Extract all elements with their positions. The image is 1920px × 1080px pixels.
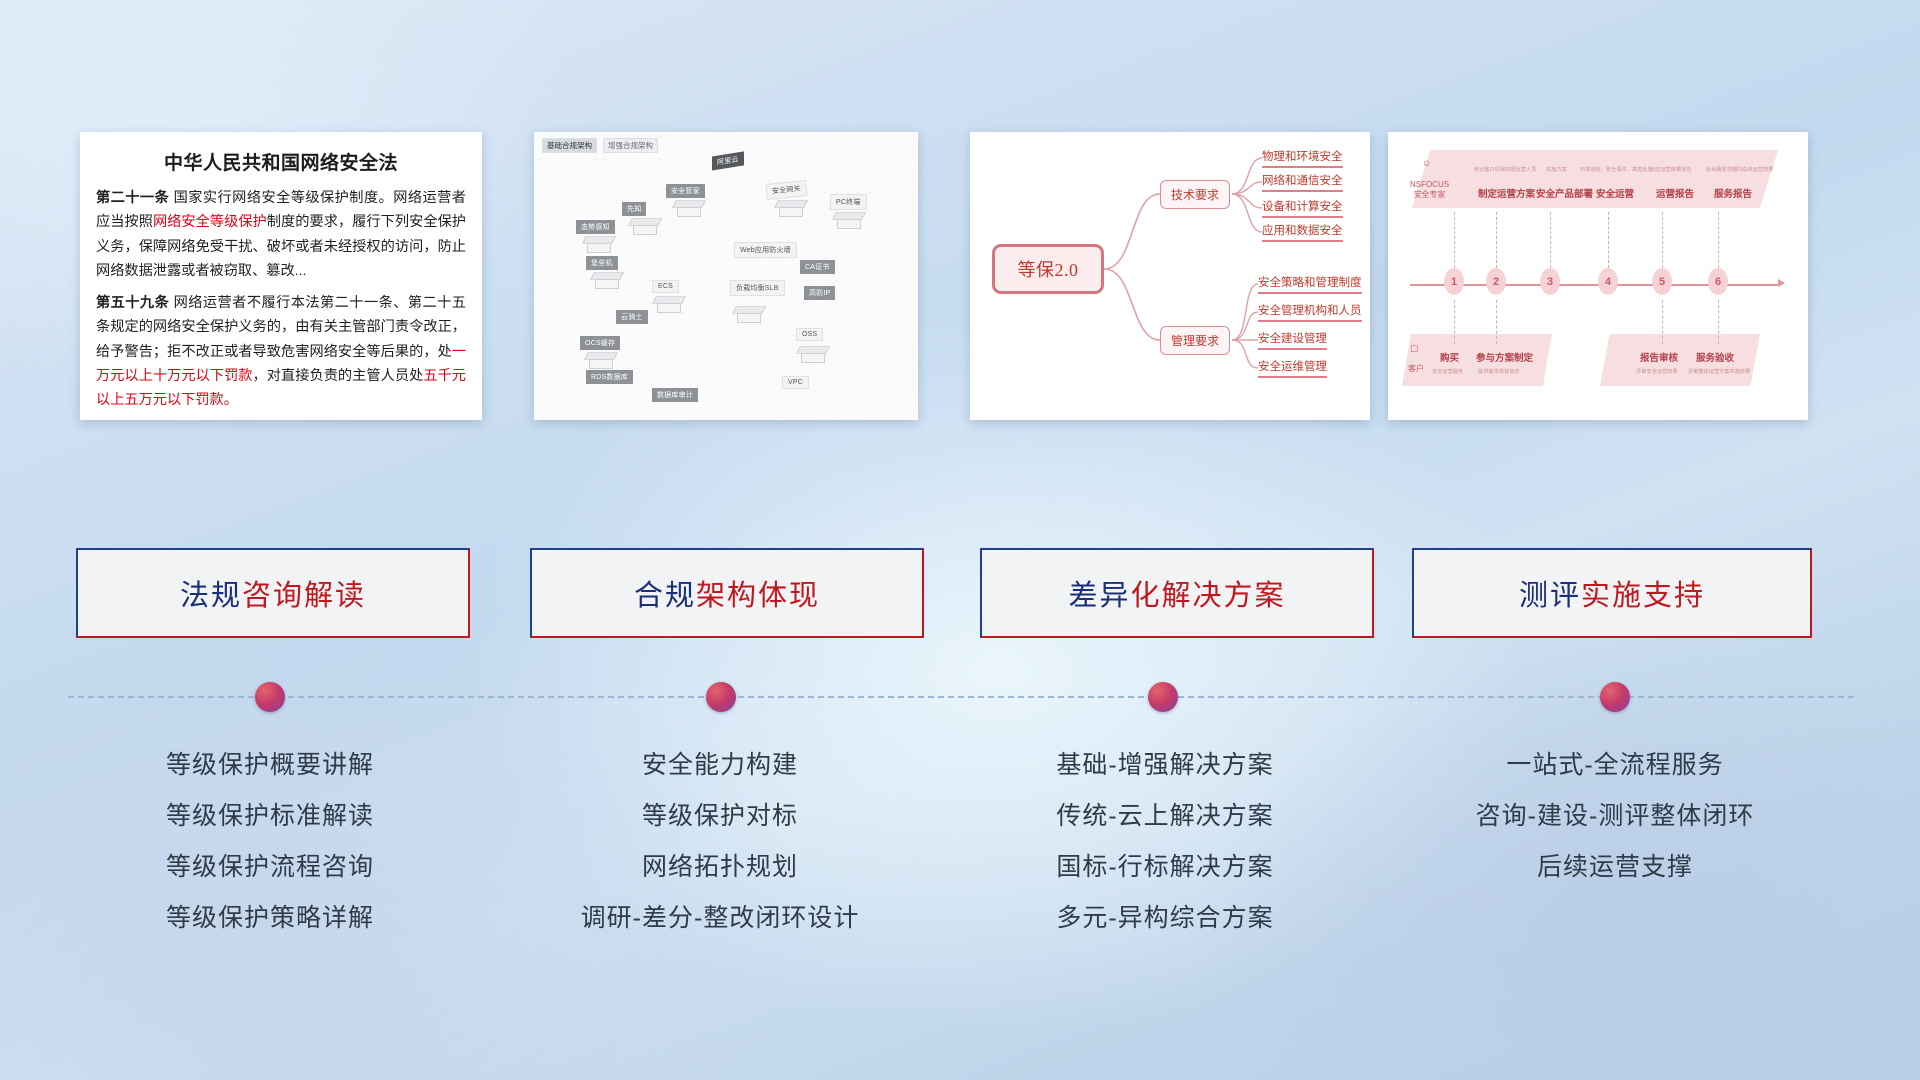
header-3-red: 化解决方案: [1131, 580, 1286, 612]
connector-bottom-3: [1662, 300, 1663, 344]
timeline-node-5: 5: [1652, 268, 1672, 295]
bottom-item-3-sub: 评审安全运营效果: [1636, 368, 1678, 375]
cube-oss: [798, 344, 828, 364]
bottom-item-1-label: 购买: [1440, 350, 1459, 364]
header-1-blue: 法规: [180, 580, 242, 612]
cube-pc-terminal: [834, 210, 864, 230]
service-timeline: ☺ NSFOCUS 安全专家 结合客户现状匹配运营人员 制定运营方案 实施方案 …: [1388, 132, 1808, 420]
cube-ocs-cache: [586, 350, 616, 370]
node-rds-database: RDS数据库: [586, 370, 633, 384]
node-bastion-host: 堡垒机: [586, 256, 618, 270]
bottom-item-1-sub: 安全运营服务: [1432, 368, 1463, 375]
header-1-red: 咨询解读: [242, 580, 366, 612]
step-2-sub: 结合客户现状匹配运营人员: [1474, 166, 1536, 173]
rail-dot-4[interactable]: [1600, 682, 1630, 712]
mindmap-branch-management: 管理要求: [1160, 326, 1230, 355]
bullet-column-3: 基础-增强解决方案 传统-云上解决方案 国标-行标解决方案 多元-异构综合方案: [955, 740, 1375, 944]
timeline-node-4: 4: [1598, 268, 1618, 295]
section-headers-row: 法规咨询解读 合规架构体现 差异化解决方案 测评实施支持: [0, 548, 1920, 640]
header-4-red: 实施支持: [1581, 580, 1705, 612]
cube-security-butler: [674, 198, 704, 218]
mindmap-leaf-device-computing: 设备和计算安全: [1262, 198, 1343, 218]
bottom-item-2-sub: 提供基本现状信息: [1478, 368, 1520, 375]
law-article-59: 第五十九条 网络运营者不履行本法第二十一条、第二十五条规定的网络安全保护义务的，…: [96, 291, 466, 413]
customer-role-label: 客户: [1408, 364, 1424, 374]
mindmap-leaf-physical-environment: 物理和环境安全: [1262, 148, 1343, 168]
list-item: 等级保护流程咨询: [60, 842, 480, 893]
connector-step-3: [1550, 212, 1551, 268]
list-item: 基础-增强解决方案: [955, 740, 1375, 791]
timeline-node-6: 6: [1708, 268, 1728, 295]
connector-step-1: [1454, 212, 1455, 268]
mindmap-leaf-application-data: 应用和数据安全: [1262, 222, 1343, 242]
node-anti-ddos-ip: 高防IP: [804, 286, 835, 300]
list-item: 咨询-建设-测评整体闭环: [1400, 791, 1830, 842]
list-item: 网络拓扑规划: [510, 842, 930, 893]
rail-dot-2[interactable]: [706, 682, 736, 712]
architecture-diagram: 基础合规架构 增强合规架构 阿里云 安全管家 先知 态势感知 堡垒机 ECS 云…: [534, 132, 918, 420]
step-4-sub: 日常巡检、安全事件、高危处置: [1580, 166, 1653, 173]
bullet-column-1: 等级保护概要讲解 等级保护标准解读 等级保护流程咨询 等级保护策略详解: [60, 740, 480, 944]
architecture-tabs: 基础合规架构 增强合规架构: [542, 138, 658, 153]
article-21-highlight: 网络安全等级保护: [153, 214, 267, 230]
preview-cards-row: 中华人民共和国网络安全法 第二十一条 国家实行网络安全等级保护制度。网络运营者应…: [0, 132, 1920, 432]
node-db-audit: 数据库审计: [652, 388, 698, 402]
timeline-node-3: 3: [1540, 268, 1560, 295]
step-5-label: 运营报告: [1656, 186, 1694, 200]
article-59-text-b: ，对直接负责的主管人员处: [253, 368, 424, 384]
tab-enhanced-architecture[interactable]: 增强合规架构: [603, 138, 658, 153]
node-ecs: ECS: [652, 280, 679, 293]
bullet-columns-row: 等级保护概要讲解 等级保护标准解读 等级保护流程咨询 等级保护策略详解 安全能力…: [0, 740, 1920, 980]
node-oss: OSS: [796, 328, 823, 341]
step-3-sub: 实施方案: [1546, 166, 1567, 173]
list-item: 传统-云上解决方案: [955, 791, 1375, 842]
cube-situation-awareness: [584, 234, 614, 254]
tab-basic-architecture[interactable]: 基础合规架构: [542, 138, 597, 153]
connector-step-2: [1496, 212, 1497, 268]
list-item: 等级保护概要讲解: [60, 740, 480, 791]
list-item: 多元-异构综合方案: [955, 893, 1375, 944]
law-article-21: 第二十一条 国家实行网络安全等级保护制度。网络运营者应当按照网络安全等级保护制度…: [96, 186, 466, 284]
timeline-node-2: 2: [1486, 268, 1506, 295]
list-item: 安全能力构建: [510, 740, 930, 791]
list-item: 国标-行标解决方案: [955, 842, 1375, 893]
mindmap-leaf-security-org-personnel: 安全管理机构和人员: [1258, 302, 1362, 322]
mindmap-root-node: 等保2.0: [992, 244, 1104, 294]
step-6-sub: 给出服务范围内总体运营效果: [1706, 166, 1773, 173]
card-service-timeline[interactable]: ☺ NSFOCUS 安全专家 结合客户现状匹配运营人员 制定运营方案 实施方案 …: [1388, 132, 1808, 420]
bottom-item-4-label: 服务验收: [1696, 350, 1734, 364]
timeline-node-1: 1: [1444, 268, 1464, 295]
node-pc-terminal: PC终端: [830, 194, 867, 210]
step-4-label: 安全运营: [1596, 186, 1634, 200]
list-item: 一站式-全流程服务: [1400, 740, 1830, 791]
customer-person-icon: ☐: [1410, 344, 1418, 355]
bottom-item-4-sub: 评审整体运营方案实施效果: [1688, 368, 1750, 375]
list-item: 等级保护标准解读: [60, 791, 480, 842]
mindmap-leaf-security-construction: 安全建设管理: [1258, 330, 1327, 350]
expert-role-label: NSFOCUS 安全专家: [1410, 180, 1449, 200]
cube-security-gateway: [776, 198, 806, 218]
list-item: 后续运营支撑: [1400, 842, 1830, 893]
node-xianzhi: 先知: [622, 202, 646, 216]
mindmap-branch-technical: 技术要求: [1160, 180, 1230, 209]
node-cloud-knight: 云骑士: [616, 310, 648, 324]
header-2-red: 架构体现: [696, 580, 820, 612]
node-web-application-firewall: Web应用防火墙: [734, 242, 797, 258]
connector-bottom-1: [1454, 300, 1455, 344]
timeline-customer-band-right: [1600, 334, 1760, 386]
timeline-rail: [68, 696, 1854, 698]
article-59-label: 第五十九条: [96, 295, 169, 311]
law-title: 中华人民共和国网络安全法: [96, 148, 466, 175]
bottom-item-3-label: 报告审核: [1640, 350, 1678, 364]
header-3-blue: 差异: [1068, 580, 1130, 612]
node-vpc: VPC: [782, 376, 809, 389]
bullet-column-2: 安全能力构建 等级保护对标 网络拓扑规划 调研-差分-整改闭环设计: [510, 740, 930, 944]
rail-dot-3[interactable]: [1148, 682, 1178, 712]
step-3-label: 安全产品部署: [1536, 186, 1593, 200]
expert-role-line1: NSFOCUS: [1410, 180, 1449, 190]
node-security-butler: 安全管家: [666, 184, 705, 198]
mindmap: 等保2.0 技术要求 物理和环境安全 网络和通信安全 设备和计算安全 应用和数据…: [970, 132, 1370, 420]
cube-ecs: [654, 294, 684, 314]
list-item: 调研-差分-整改闭环设计: [510, 893, 930, 944]
list-item: 等级保护策略详解: [60, 893, 480, 944]
bullet-column-4: 一站式-全流程服务 咨询-建设-测评整体闭环 后续运营支撑: [1400, 740, 1830, 893]
expert-role-line2: 安全专家: [1410, 190, 1449, 200]
card-dengbao-mindmap[interactable]: 等保2.0 技术要求 物理和环境安全 网络和通信安全 设备和计算安全 应用和数据…: [970, 132, 1370, 420]
card-cybersecurity-law[interactable]: 中华人民共和国网络安全法 第二十一条 国家实行网络安全等级保护制度。网络运营者应…: [80, 132, 482, 420]
connector-step-4: [1608, 212, 1609, 268]
connector-step-6: [1718, 212, 1719, 268]
header-2-blue: 合规: [634, 580, 696, 612]
connector-bottom-4: [1718, 300, 1719, 344]
bottom-item-2-label: 参与方案制定: [1476, 350, 1533, 364]
node-situation-awareness: 态势感知: [576, 220, 615, 234]
node-ca-certificate: CA证书: [800, 260, 835, 274]
node-ocs-cache: OCS缓存: [580, 336, 620, 350]
mindmap-leaf-network-communication: 网络和通信安全: [1262, 172, 1343, 192]
header-4-blue: 测评: [1519, 580, 1581, 612]
card-compliance-architecture[interactable]: 基础合规架构 增强合规架构 阿里云 安全管家 先知 态势感知 堡垒机 ECS 云…: [534, 132, 918, 420]
timeline-arrow-icon: [1778, 279, 1785, 287]
section-header-differentiated-solution[interactable]: 差异化解决方案: [980, 548, 1374, 638]
cube-slb: [734, 304, 764, 324]
step-2-label: 制定运营方案: [1478, 186, 1535, 200]
expert-person-icon: ☺: [1422, 158, 1431, 169]
step-6-label: 服务报告: [1714, 186, 1752, 200]
connector-bottom-2: [1496, 300, 1497, 344]
node-load-balancer-slb: 负载均衡SLB: [730, 280, 785, 296]
section-header-compliance-architecture[interactable]: 合规架构体现: [530, 548, 924, 638]
mindmap-leaf-security-policy: 安全策略和管理制度: [1258, 274, 1362, 294]
rail-dot-1[interactable]: [255, 682, 285, 712]
cube-xianzhi: [630, 216, 660, 236]
connector-step-5: [1662, 212, 1663, 268]
cube-bastion-host: [592, 270, 622, 290]
section-header-regulation-consulting[interactable]: 法规咨询解读: [76, 548, 470, 638]
article-21-label: 第二十一条: [96, 190, 169, 206]
section-header-assessment-support[interactable]: 测评实施支持: [1412, 548, 1812, 638]
mindmap-leaf-security-ops: 安全运维管理: [1258, 358, 1327, 378]
list-item: 等级保护对标: [510, 791, 930, 842]
step-5-sub: 对应运营效果报告: [1650, 166, 1692, 173]
